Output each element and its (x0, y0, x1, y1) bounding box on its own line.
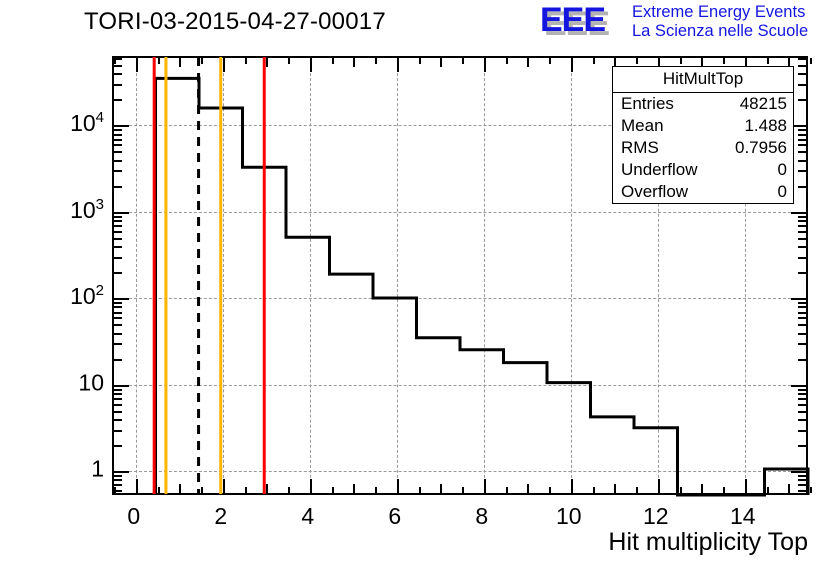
x-tick-top (310, 58, 312, 72)
x-tick-top (593, 58, 595, 64)
x-tick-top (245, 58, 247, 64)
y-tick (114, 490, 122, 492)
y-tick-right (798, 170, 806, 172)
x-tick (136, 479, 138, 493)
x-tick (332, 487, 334, 493)
y-tick (114, 139, 122, 141)
y-tick (114, 302, 122, 304)
x-tick-label: 12 (643, 503, 669, 530)
y-tick-right (798, 411, 806, 413)
y-tick-right (798, 225, 806, 227)
y-tick-right (798, 216, 806, 218)
y-tick-right (798, 246, 806, 248)
x-tick-top (549, 58, 551, 64)
eee-logo: EEE EEE Extreme Energy Events La Scienza… (540, 2, 832, 46)
stats-value: 48215 (740, 94, 787, 114)
y-tick-right (798, 129, 806, 131)
y-tick-right (798, 272, 806, 274)
stats-row: Underflow0 (613, 159, 793, 181)
y-tick-right (798, 144, 806, 146)
stats-key: Overflow (621, 182, 688, 202)
x-tick (745, 479, 747, 493)
gridline-vertical (136, 58, 137, 493)
y-tick (114, 58, 122, 60)
y-tick (114, 73, 122, 75)
y-tick-right (791, 298, 806, 300)
y-tick-right (798, 257, 806, 259)
x-tick (288, 487, 290, 493)
x-tick-label: 14 (730, 503, 756, 530)
y-tick (114, 306, 122, 308)
y-tick-right (798, 312, 806, 314)
y-tick (114, 257, 122, 259)
stats-value: 0 (778, 182, 787, 202)
x-tick (375, 487, 377, 493)
y-tick (114, 238, 122, 240)
x-tick-top (810, 58, 812, 64)
y-tick-right (798, 430, 806, 432)
y-tick-right (798, 490, 806, 492)
y-tick-right (798, 398, 806, 400)
y-tick (114, 359, 122, 361)
x-tick (527, 484, 529, 493)
x-tick (440, 484, 442, 493)
y-tick (114, 65, 122, 67)
y-tick (114, 398, 122, 400)
x-tick (593, 487, 595, 493)
y-tick-right (798, 343, 806, 345)
stats-key: RMS (621, 138, 659, 158)
gridline-vertical (571, 58, 572, 493)
gridline-vertical (310, 58, 311, 493)
y-tick (114, 385, 129, 387)
x-tick-top (767, 58, 769, 64)
y-tick (114, 479, 122, 481)
y-tick-right (798, 306, 806, 308)
x-tick (810, 487, 812, 493)
y-tick-right (791, 471, 806, 473)
y-tick (114, 393, 122, 395)
x-tick-top (223, 58, 225, 72)
gridline-horizontal (114, 298, 806, 299)
x-tick-top (397, 58, 399, 72)
x-tick-top (179, 58, 181, 67)
x-tick (549, 487, 551, 493)
stats-row: Mean1.488 (613, 115, 793, 137)
eee-logo-mark-front: EEE (540, 3, 605, 37)
x-tick (310, 479, 312, 493)
y-tick-right (798, 393, 806, 395)
y-tick (114, 144, 122, 146)
y-tick-right (798, 134, 806, 136)
stats-value: 0.7956 (735, 138, 787, 158)
x-tick (701, 484, 703, 493)
y-tick-right (798, 151, 806, 153)
y-tick-right (798, 220, 806, 222)
y-tick (114, 445, 122, 447)
y-tick (114, 125, 129, 127)
x-tick (223, 479, 225, 493)
y-tick (114, 272, 122, 274)
y-tick-right (798, 475, 806, 477)
x-tick (614, 484, 616, 493)
x-tick-top (484, 58, 486, 72)
x-tick (201, 487, 203, 493)
stats-box: HitMultTop Entries48215Mean1.488RMS0.795… (612, 66, 794, 204)
gridline-vertical (223, 58, 224, 493)
x-tick-top (136, 58, 138, 72)
x-tick-top (680, 58, 682, 64)
x-tick (636, 487, 638, 493)
x-tick (723, 487, 725, 493)
eee-logo-text: Extreme Energy Events La Scienza nelle S… (632, 3, 808, 41)
y-tick (114, 246, 122, 248)
x-tick-label: 0 (127, 503, 140, 530)
y-tick-right (798, 484, 806, 486)
x-tick-label: 4 (301, 503, 314, 530)
y-tick-right (791, 212, 806, 214)
x-tick-label: 2 (214, 503, 227, 530)
y-tick-right (798, 317, 806, 319)
y-tick (114, 298, 129, 300)
x-tick-top (506, 58, 508, 64)
y-tick (114, 343, 122, 345)
stats-key: Mean (621, 116, 664, 136)
y-tick (114, 160, 122, 162)
y-tick-label: 10 (78, 369, 104, 396)
plot-canvas: TORI-03-2015-04-27-00017 EEE EEE Extreme… (0, 0, 836, 572)
y-tick-right (791, 385, 806, 387)
stats-key: Underflow (621, 160, 698, 180)
gridline-vertical (397, 58, 398, 493)
x-tick (462, 487, 464, 493)
stats-value: 0 (778, 160, 787, 180)
y-tick (114, 484, 122, 486)
y-tick-right (798, 84, 806, 86)
gridline-horizontal (114, 385, 806, 386)
stats-row: Entries48215 (613, 93, 793, 115)
x-tick-top (723, 58, 725, 64)
x-tick-top (571, 58, 573, 72)
stats-row: Overflow0 (613, 181, 793, 203)
x-axis-title: Hit multiplicity Top (608, 528, 808, 557)
y-tick (114, 411, 122, 413)
x-tick-top (288, 58, 290, 64)
eee-logo-line2: La Scienza nelle Scuole (632, 22, 808, 41)
y-tick-right (798, 404, 806, 406)
stats-key: Entries (621, 94, 674, 114)
y-tick (114, 84, 122, 86)
gridline-horizontal (114, 212, 806, 213)
y-tick (114, 317, 122, 319)
y-tick (114, 151, 122, 153)
x-tick (179, 484, 181, 493)
x-tick-label: 6 (388, 503, 401, 530)
y-tick-label: 104 (70, 109, 104, 137)
y-tick-right (798, 324, 806, 326)
y-tick-right (798, 479, 806, 481)
y-tick (114, 419, 122, 421)
x-tick (571, 479, 573, 493)
y-tick (114, 324, 122, 326)
x-tick-label: 10 (556, 503, 582, 530)
y-tick-right (798, 99, 806, 101)
y-tick (114, 225, 122, 227)
x-tick-top (332, 58, 334, 64)
y-tick-right (798, 333, 806, 335)
y-tick (114, 471, 129, 473)
x-tick (506, 487, 508, 493)
x-tick (419, 487, 421, 493)
y-tick-right (798, 238, 806, 240)
y-tick (114, 404, 122, 406)
x-tick (353, 484, 355, 493)
y-tick (114, 216, 122, 218)
x-tick-top (266, 58, 268, 67)
x-tick (245, 487, 247, 493)
y-tick-right (798, 73, 806, 75)
x-tick (788, 484, 790, 493)
y-tick-right (798, 186, 806, 188)
x-tick-top (527, 58, 529, 67)
x-tick-top (462, 58, 464, 64)
x-tick-top (375, 58, 377, 64)
y-tick-right (798, 359, 806, 361)
y-tick (114, 99, 122, 101)
y-tick-label: 103 (70, 196, 104, 224)
y-tick-label: 102 (70, 282, 104, 310)
gridline-horizontal (114, 471, 806, 472)
eee-logo-line1: Extreme Energy Events (632, 3, 808, 22)
y-tick-right (798, 231, 806, 233)
x-tick (158, 487, 160, 493)
y-tick-right (798, 419, 806, 421)
x-tick-top (158, 58, 160, 64)
x-tick-top (353, 58, 355, 67)
y-tick (114, 430, 122, 432)
stats-value: 1.488 (744, 116, 787, 136)
y-tick (114, 220, 122, 222)
y-tick (114, 134, 122, 136)
x-tick (397, 479, 399, 493)
x-tick-top (201, 58, 203, 64)
x-tick-top (440, 58, 442, 67)
y-tick-right (798, 445, 806, 447)
gridline-vertical (484, 58, 485, 493)
y-tick (114, 333, 122, 335)
y-tick (114, 186, 122, 188)
x-tick-label: 8 (475, 503, 488, 530)
x-tick-top (419, 58, 421, 64)
y-tick-label: 1 (91, 455, 104, 482)
y-tick (114, 170, 122, 172)
y-tick (114, 212, 129, 214)
y-tick-right (798, 302, 806, 304)
eee-logo-mark: EEE EEE (540, 3, 626, 37)
y-tick-right (798, 58, 806, 60)
y-tick (114, 475, 122, 477)
stats-row: RMS0.7956 (613, 137, 793, 159)
stats-title: HitMultTop (613, 67, 793, 93)
x-tick (484, 479, 486, 493)
y-tick-right (798, 160, 806, 162)
x-tick (266, 484, 268, 493)
y-tick-right (798, 389, 806, 391)
stats-rows: Entries48215Mean1.488RMS0.7956Underflow0… (613, 93, 793, 203)
x-tick (767, 487, 769, 493)
y-tick (114, 312, 122, 314)
y-tick (114, 129, 122, 131)
y-tick-right (798, 139, 806, 141)
y-tick (114, 389, 122, 391)
y-tick-right (798, 65, 806, 67)
x-tick (680, 487, 682, 493)
x-tick (658, 479, 660, 493)
x-tick-top (636, 58, 638, 64)
y-tick (114, 231, 122, 233)
page-title: TORI-03-2015-04-27-00017 (84, 8, 386, 36)
